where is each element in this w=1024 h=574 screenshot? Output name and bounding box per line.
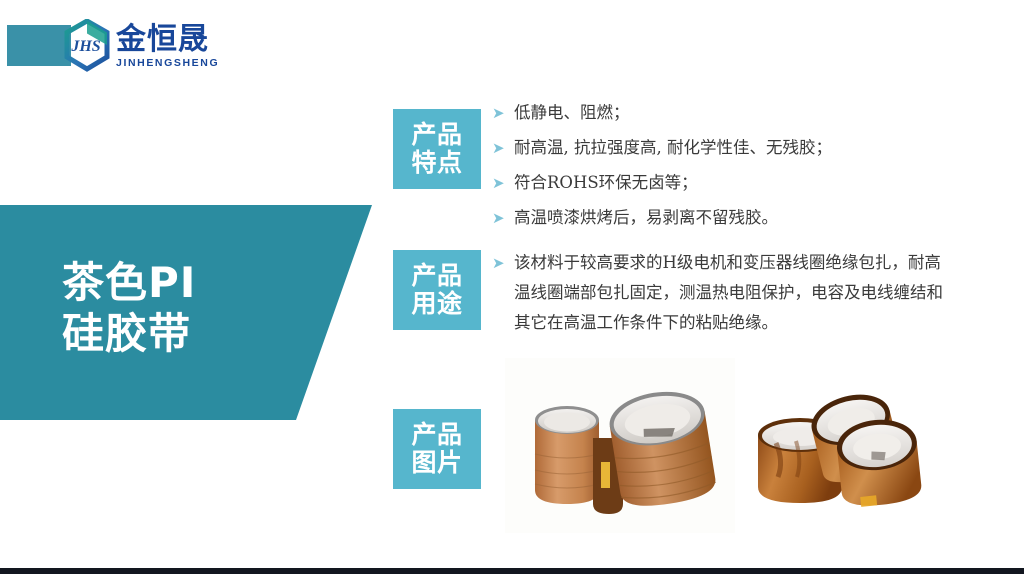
list-item: ➤ 高温喷漆烘烤后，易剥离不留残胶。 — [492, 205, 962, 231]
company-name-en: JINHENGSHENG — [116, 58, 219, 69]
page-title-line2: 硅胶带 — [62, 308, 196, 359]
product-photo-three-rolls — [748, 383, 933, 528]
product-uses-list: ➤ 该材料于较高要求的H级电机和变压器线圈绝缘包扎，耐高温线圈端部包扎固定，测温… — [492, 248, 952, 347]
arrow-bullet-icon: ➤ — [492, 100, 514, 126]
list-item-text: 符合ROHS环保无卤等； — [514, 170, 962, 196]
list-item-text: 该材料于较高要求的H级电机和变压器线圈绝缘包扎，耐高温线圈端部包扎固定，测温热电… — [514, 248, 952, 338]
section-label-product-uses: 产品 用途 — [393, 250, 481, 330]
bottom-divider — [0, 568, 1024, 574]
list-item-text: 耐高温, 抗拉强度高, 耐化学性佳、无残胶； — [514, 135, 962, 161]
list-item: ➤ 耐高温, 抗拉强度高, 耐化学性佳、无残胶； — [492, 135, 962, 161]
svg-text:JHS: JHS — [70, 38, 100, 55]
chip-uses-line1: 产品 — [411, 262, 462, 290]
list-item-text: 低静电、阻燃； — [514, 100, 962, 126]
section-label-product-images: 产品 图片 — [393, 409, 481, 489]
chip-features-line1: 产品 — [411, 121, 462, 149]
page-title: 茶色PI 硅胶带 — [62, 257, 196, 359]
product-photo-stacked-rolls — [505, 358, 735, 533]
logo-wordmark: 金恒晟 JINHENGSHENG — [116, 23, 219, 69]
list-item: ➤ 符合ROHS环保无卤等； — [492, 170, 962, 196]
chip-uses-line2: 用途 — [411, 290, 462, 318]
chip-images-line2: 图片 — [411, 449, 462, 477]
list-item-text: 高温喷漆烘烤后，易剥离不留残胶。 — [514, 205, 962, 231]
list-item: ➤ 该材料于较高要求的H级电机和变压器线圈绝缘包扎，耐高温线圈端部包扎固定，测温… — [492, 248, 952, 338]
product-title-banner: 茶色PI 硅胶带 — [0, 205, 372, 420]
list-item: ➤ 低静电、阻燃； — [492, 100, 962, 126]
arrow-bullet-icon: ➤ — [492, 248, 514, 278]
jhs-hexagon-icon: JHS — [62, 19, 112, 73]
product-features-list: ➤ 低静电、阻燃； ➤ 耐高温, 抗拉强度高, 耐化学性佳、无残胶； ➤ 符合R… — [492, 100, 962, 240]
chip-features-line2: 特点 — [411, 149, 462, 177]
arrow-bullet-icon: ➤ — [492, 205, 514, 231]
arrow-bullet-icon: ➤ — [492, 170, 514, 196]
chip-images-line1: 产品 — [411, 421, 462, 449]
slide-canvas: JHS 金恒晟 JINHENGSHENG 茶色PI 硅胶带 产品 特点 ➤ 低静… — [0, 0, 1024, 574]
company-logo: JHS 金恒晟 JINHENGSHENG — [62, 18, 219, 74]
company-name-cn: 金恒晟 — [116, 25, 219, 55]
arrow-bullet-icon: ➤ — [492, 135, 514, 161]
page-title-line1: 茶色PI — [62, 257, 196, 308]
section-label-product-features: 产品 特点 — [393, 109, 481, 189]
